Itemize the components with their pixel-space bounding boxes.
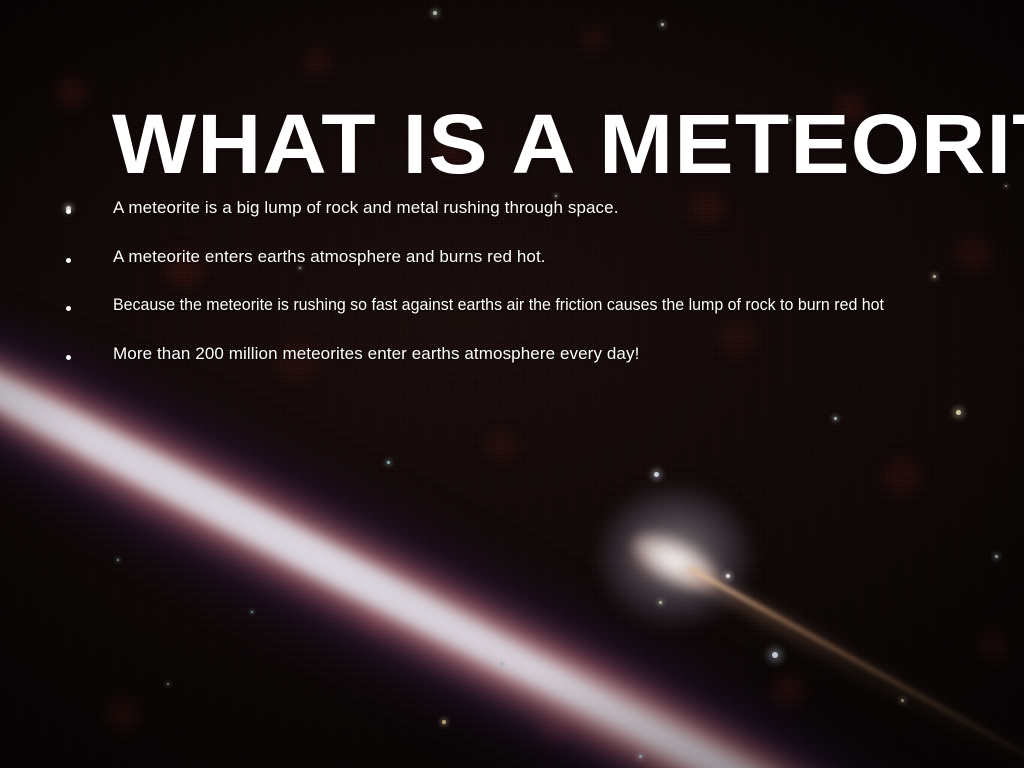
bullet-list: A meteorite is a big lump of rock and me…	[60, 195, 1010, 389]
bullet-item: A meteorite is a big lump of rock and me…	[60, 195, 1010, 244]
star-point	[167, 683, 170, 686]
bullet-text: More than 200 million meteorites enter e…	[113, 341, 639, 367]
bullet-dot-icon	[66, 209, 71, 214]
bullet-dot-icon	[66, 306, 71, 311]
star-point	[117, 559, 120, 562]
slide-title: WHAT IS A METEORITE	[112, 102, 973, 186]
star-point	[834, 417, 837, 420]
star-point	[654, 472, 659, 477]
slide-canvas: WHAT IS A METEORITE A meteorite is a big…	[0, 0, 1024, 768]
bullet-dot-icon	[66, 258, 71, 263]
bullet-item: A meteorite enters earths atmosphere and…	[60, 244, 1010, 293]
star-point	[387, 461, 390, 464]
bullet-text: A meteorite is a big lump of rock and me…	[113, 195, 619, 221]
star-point	[956, 410, 961, 415]
star-point	[995, 555, 998, 558]
bullet-text: A meteorite enters earths atmosphere and…	[113, 244, 546, 270]
star-point	[772, 652, 778, 658]
bullet-item: Because the meteorite is rushing so fast…	[60, 292, 1010, 341]
star-point	[433, 11, 437, 15]
bullet-dot-icon	[66, 355, 71, 360]
bullet-item: More than 200 million meteorites enter e…	[60, 341, 1010, 390]
star-point	[661, 23, 664, 26]
star-point	[442, 720, 446, 724]
bullet-text: Because the meteorite is rushing so fast…	[113, 292, 884, 318]
